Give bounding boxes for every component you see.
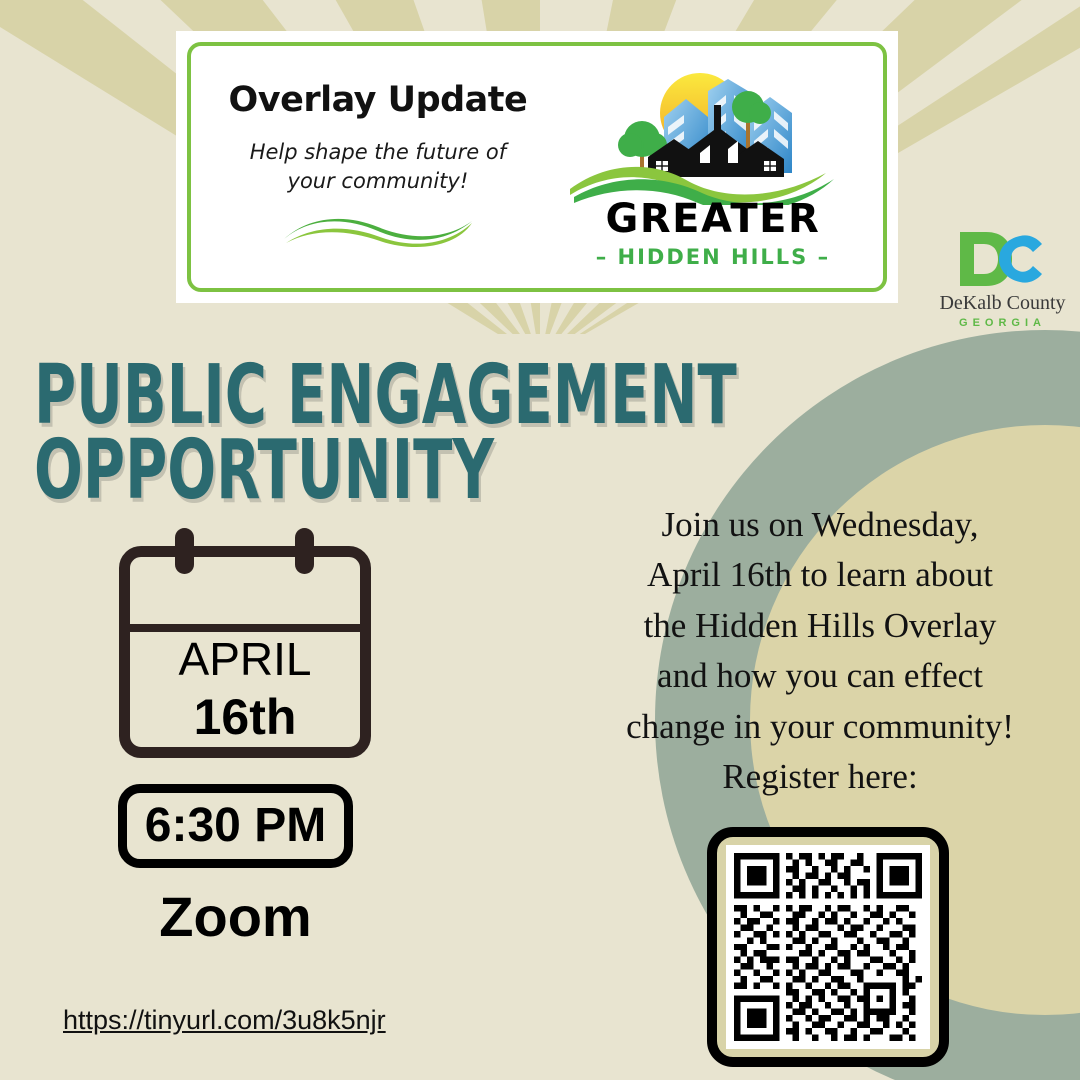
calendar-header-divider xyxy=(119,624,371,632)
description-line-1: Join us on Wednesday, xyxy=(600,500,1040,550)
registration-url-link[interactable]: https://tinyurl.com/3u8k5njr xyxy=(63,1005,386,1036)
event-time: 6:30 PM xyxy=(145,802,326,850)
banner-subtitle-line-1: Help shape the future of xyxy=(250,138,506,167)
banner-title: Overlay Update xyxy=(229,80,528,120)
hidden-hills-skyline-icon xyxy=(568,65,858,205)
green-swoosh-icon xyxy=(280,209,476,254)
banner-subtitle-line-2: your community! xyxy=(250,167,506,196)
event-month: APRIL xyxy=(119,632,371,686)
calendar-icon: APRIL 16th xyxy=(119,528,371,758)
banner-subtitle: Help shape the future of your community! xyxy=(250,138,506,196)
overlay-update-banner: Overlay Update Help shape the future of … xyxy=(176,31,898,303)
description-line-3: the Hidden Hills Overlay xyxy=(600,601,1040,651)
event-day: 16th xyxy=(119,688,371,746)
page-title-line-1: PUBLIC ENGAGEMENT xyxy=(34,358,502,433)
dekalb-monogram-icon xyxy=(954,228,1052,290)
dekalb-county-name: DeKalb County xyxy=(930,292,1075,315)
event-date-block: APRIL 16th xyxy=(110,528,380,758)
page-title-line-2: OPPORTUNITY xyxy=(34,433,502,508)
dekalb-county-logo: DeKalb County GEORGIA xyxy=(930,228,1075,329)
event-time-badge: 6:30 PM xyxy=(118,784,353,868)
logo-hidden-hills-text: – HIDDEN HILLS – xyxy=(596,245,830,269)
event-description: Join us on Wednesday, April 16th to lear… xyxy=(600,500,1040,802)
qr-code-frame[interactable] xyxy=(707,827,949,1067)
banner-inner-frame: Overlay Update Help shape the future of … xyxy=(187,42,887,292)
event-platform: Zoom xyxy=(118,884,353,949)
description-line-6: Register here: xyxy=(600,752,1040,802)
logo-greater-text: GREATER xyxy=(606,199,821,239)
calendar-ring-left xyxy=(175,528,194,574)
qr-code-icon xyxy=(726,845,930,1049)
page-title: PUBLIC ENGAGEMENT OPPORTUNITY xyxy=(34,358,502,509)
description-line-2: April 16th to learn about xyxy=(600,550,1040,600)
calendar-ring-right xyxy=(295,528,314,574)
greater-hidden-hills-logo: GREATER – HIDDEN HILLS – xyxy=(551,65,883,269)
dekalb-county-state: GEORGIA xyxy=(930,317,1075,329)
description-line-4: and how you can effect xyxy=(600,651,1040,701)
banner-text-block: Overlay Update Help shape the future of … xyxy=(191,80,551,255)
flyer-canvas: Overlay Update Help shape the future of … xyxy=(0,0,1080,1080)
description-line-5: change in your community! xyxy=(600,702,1040,752)
